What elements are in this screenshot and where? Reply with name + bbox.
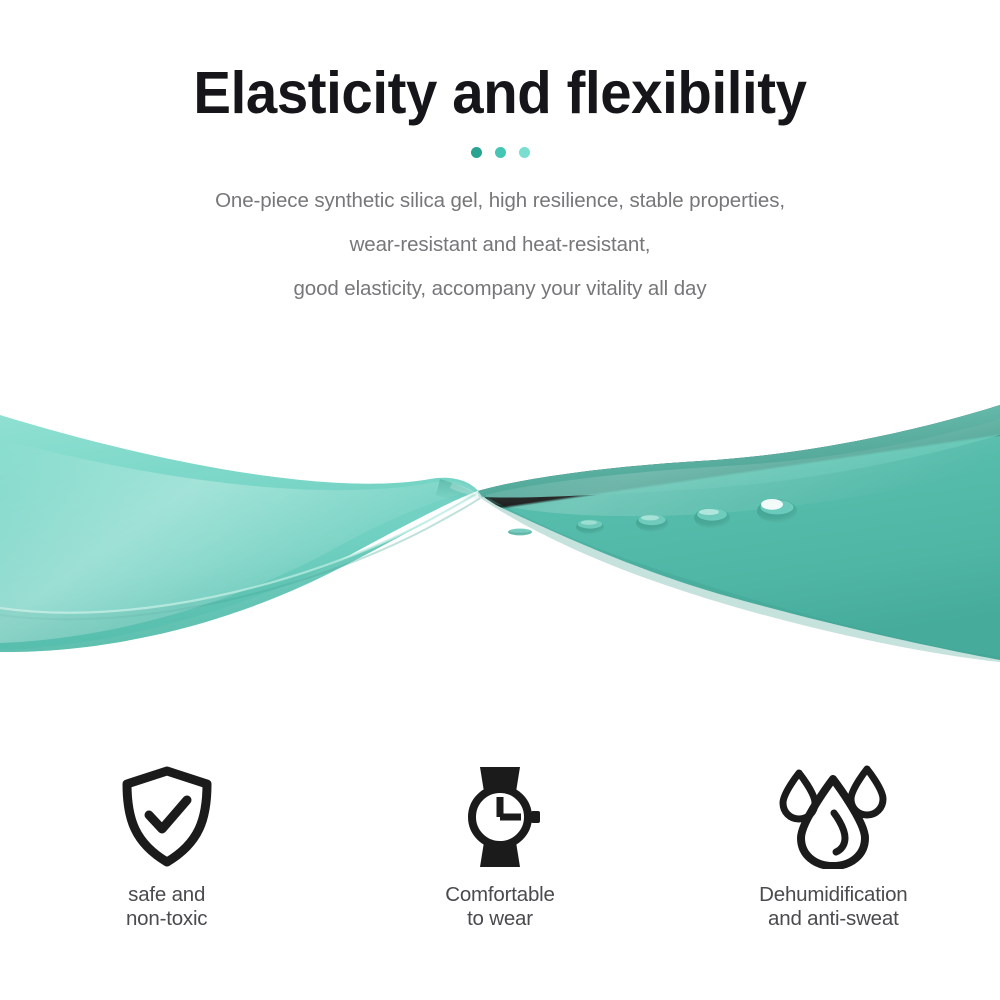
- strap-hole-1: [508, 529, 532, 536]
- header: Elasticity and flexibility One-piece syn…: [0, 0, 1000, 311]
- page-title: Elasticity and flexibility: [23, 0, 978, 126]
- feature-dehumidification: Dehumidification and anti-sweat: [667, 762, 1000, 931]
- feature-label-safe-non-toxic: safe and non-toxic: [126, 883, 207, 931]
- feature-safe-non-toxic: safe and non-toxic: [0, 762, 333, 931]
- strap-hole-3: [636, 514, 668, 531]
- feature-label-comfortable-to-wear: Comfortable to wear: [445, 883, 554, 931]
- strap-hole-2: [576, 520, 604, 534]
- subtitle-line-1: One-piece synthetic silica gel, high res…: [0, 179, 1000, 223]
- dot-1: [471, 147, 482, 158]
- feature-label-dehumidification: Dehumidification and anti-sweat: [759, 883, 907, 931]
- feature-comfortable-to-wear: Comfortable to wear: [333, 762, 666, 931]
- feature-row: safe and non-toxic Comfortable to wear: [0, 762, 1000, 931]
- feature-label-line-1: Dehumidification: [759, 883, 907, 907]
- subtitle-line-3: good elasticity, accompany your vitality…: [0, 267, 1000, 311]
- feature-label-line-2: to wear: [445, 907, 554, 931]
- shield-check-icon: [119, 762, 215, 872]
- water-drops-icon: [777, 762, 889, 872]
- subtitle-line-2: wear-resistant and heat-resistant,: [0, 223, 1000, 267]
- feature-label-line-1: Comfortable: [445, 883, 554, 907]
- strap-left-sheen: [0, 439, 476, 643]
- subtitle-block: One-piece synthetic silica gel, high res…: [0, 179, 1000, 311]
- feature-label-line-2: and anti-sweat: [759, 907, 907, 931]
- wristwatch-icon: [454, 762, 546, 872]
- strap-hole-4: [694, 508, 730, 528]
- dot-3: [519, 147, 530, 158]
- feature-label-line-2: non-toxic: [126, 907, 207, 931]
- dot-2: [495, 147, 506, 158]
- feature-label-line-1: safe and: [126, 883, 207, 907]
- dot-separator: [0, 146, 1000, 160]
- product-photo-twisted-band: [0, 375, 1000, 675]
